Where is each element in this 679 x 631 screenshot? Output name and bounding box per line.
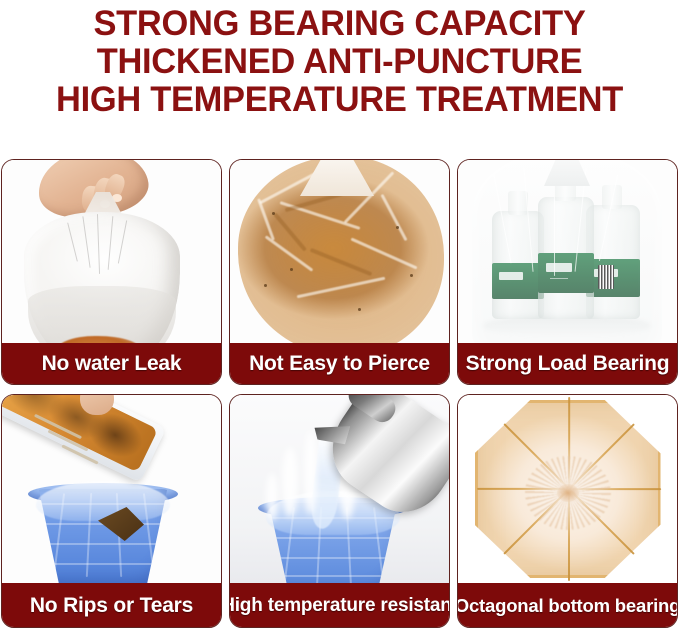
clear-bag-film-graphic	[472, 160, 662, 343]
octagonal-bag-bottom-graphic	[475, 400, 661, 578]
feature-card-strong-load-bearing: Strong Load Bearing	[457, 159, 678, 385]
steam-graphic	[282, 447, 298, 517]
feature-image-strong-load-bearing	[458, 160, 677, 343]
feature-caption-no-water-leak: No water Leak	[1, 343, 222, 385]
feature-image-no-water-leak	[2, 160, 221, 343]
feature-image-not-easy-to-pierce	[230, 160, 449, 343]
feature-card-high-temperature-resistant: High temperature resistant	[229, 394, 450, 628]
headline-line-1: STRONG BEARING CAPACITY	[10, 4, 669, 42]
feature-card-no-rips-or-tears: No Rips or Tears	[1, 394, 222, 628]
bag-liner-graphic	[36, 481, 170, 521]
feature-caption-octagonal-bottom-bearing: Octagonal bottom bearing	[457, 583, 678, 628]
feature-card-no-water-leak: No water Leak	[1, 159, 222, 385]
headline-line-2: THICKENED ANTI-PUNCTURE	[10, 42, 669, 80]
headline-block: STRONG BEARING CAPACITY THICKENED ANTI-P…	[0, 0, 679, 118]
feature-caption-high-temperature-resistant: High temperature resistant	[229, 583, 450, 628]
feature-card-octagonal-bottom-bearing: Octagonal bottom bearing	[457, 394, 678, 628]
feature-image-no-rips-or-tears	[2, 395, 221, 583]
feature-image-octagonal-bottom-bearing	[458, 395, 677, 583]
feature-caption-not-easy-to-pierce: Not Easy to Pierce	[229, 343, 450, 385]
headline-line-3: HIGH TEMPERATURE TREATMENT	[10, 80, 669, 118]
feature-grid: No water Leak	[0, 159, 679, 629]
feature-caption-no-rips-or-tears: No Rips or Tears	[1, 583, 222, 628]
water-fill-graphic	[28, 286, 176, 343]
feature-caption-strong-load-bearing: Strong Load Bearing	[457, 343, 678, 385]
steam-graphic	[266, 473, 278, 521]
steam-graphic	[304, 431, 317, 515]
feature-image-high-temperature-resistant	[230, 395, 449, 583]
feature-card-not-easy-to-pierce: Not Easy to Pierce	[229, 159, 450, 385]
